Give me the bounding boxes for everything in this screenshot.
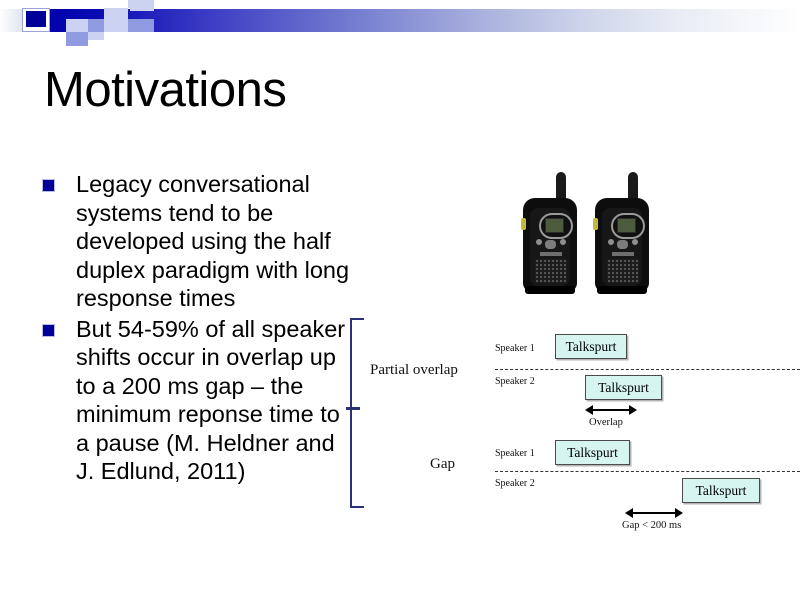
header-square-mid-a bbox=[128, 19, 154, 32]
arrow-shaft bbox=[631, 512, 677, 514]
radio-base bbox=[597, 286, 647, 294]
arrow-head-right-icon bbox=[675, 508, 683, 518]
keypad-center-button bbox=[617, 240, 628, 249]
bracket-top-arm bbox=[350, 318, 364, 320]
list-item: But 54-59% of all speaker shifts occur i… bbox=[38, 315, 358, 486]
header-square-light-b bbox=[104, 19, 128, 32]
speaker-divider-dashed bbox=[495, 471, 800, 472]
radio-body bbox=[595, 198, 649, 292]
bracket-bottom-arm bbox=[350, 506, 364, 508]
talkspurt-box: Talkspurt bbox=[555, 440, 630, 465]
speaker-grille bbox=[535, 259, 567, 283]
turn-taking-diagram: Partial overlap Speaker 1 Talkspurt Spea… bbox=[370, 330, 800, 545]
brand-logo bbox=[612, 252, 634, 256]
square-bullet-icon bbox=[42, 324, 55, 337]
side-button bbox=[521, 218, 526, 230]
speaker-divider-dashed bbox=[495, 369, 800, 370]
walkie-talkie-image bbox=[505, 172, 675, 294]
talkspurt-box: Talkspurt bbox=[682, 478, 760, 503]
bracket-middle-tick bbox=[346, 407, 360, 410]
slide-header-decoration bbox=[0, 0, 800, 42]
keypad-button bbox=[608, 239, 614, 245]
measure-caption: Gap < 200 ms bbox=[622, 520, 681, 531]
arrow-shaft bbox=[591, 409, 631, 411]
header-square-navy bbox=[26, 11, 46, 27]
list-item: Legacy conversational systems tend to be… bbox=[38, 170, 358, 313]
speaker-label: Speaker 2 bbox=[495, 376, 535, 387]
grouping-bracket bbox=[346, 314, 366, 512]
measure-caption: Overlap bbox=[589, 417, 623, 428]
header-square-light-c bbox=[66, 19, 88, 32]
walkie-talkie-left bbox=[523, 186, 581, 292]
speaker-grille bbox=[607, 259, 639, 283]
radio-body bbox=[523, 198, 577, 292]
talkspurt-box: Talkspurt bbox=[585, 375, 662, 400]
brand-logo bbox=[540, 252, 562, 256]
keypad-button bbox=[632, 239, 638, 245]
keypad-button bbox=[560, 239, 566, 245]
speaker-label: Speaker 2 bbox=[495, 478, 535, 489]
group-label-gap: Gap bbox=[430, 456, 455, 473]
lcd-screen bbox=[617, 218, 636, 233]
square-bullet-icon bbox=[42, 179, 55, 192]
talkspurt-box: Talkspurt bbox=[555, 334, 627, 359]
keypad-button bbox=[536, 239, 542, 245]
header-square-light-e bbox=[128, 0, 154, 8]
keypad-center-button bbox=[545, 240, 556, 249]
header-square-light-d bbox=[88, 32, 104, 40]
arrow-head-right-icon bbox=[629, 405, 637, 415]
gap-measure-arrow bbox=[625, 508, 683, 518]
header-square-mid-c bbox=[66, 32, 88, 46]
bullet-text: But 54-59% of all speaker shifts occur i… bbox=[76, 316, 345, 485]
radio-face bbox=[530, 208, 570, 286]
radio-face bbox=[602, 208, 642, 286]
slide: Motivations Legacy conversational system… bbox=[0, 0, 800, 599]
overlap-measure-arrow bbox=[585, 405, 637, 415]
lcd-screen bbox=[545, 218, 564, 233]
side-button bbox=[593, 218, 598, 230]
bullet-list: Legacy conversational systems tend to be… bbox=[38, 170, 358, 488]
header-square-mid-b bbox=[88, 19, 104, 32]
page-title: Motivations bbox=[44, 63, 286, 117]
walkie-talkie-right bbox=[595, 186, 653, 292]
bullet-text: Legacy conversational systems tend to be… bbox=[76, 171, 349, 311]
header-square-light-a bbox=[104, 8, 128, 19]
speaker-label: Speaker 1 bbox=[495, 448, 535, 459]
radio-base bbox=[525, 286, 575, 294]
speaker-label: Speaker 1 bbox=[495, 343, 535, 354]
group-label-partial-overlap: Partial overlap bbox=[370, 362, 458, 379]
bracket-spine bbox=[350, 318, 352, 508]
